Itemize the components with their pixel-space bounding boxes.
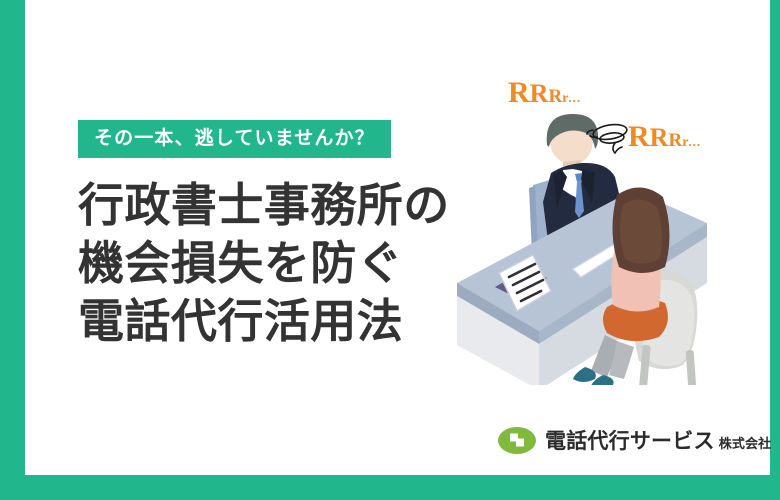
company-name-suffix: 株式会社 <box>719 433 772 452</box>
headline-line-1: 行政書士事務所の <box>78 177 478 235</box>
ring-ellipsis: ... <box>568 90 581 105</box>
ring-sound-text-2: RRRr... <box>628 122 701 152</box>
company-logo-lockup: 電話代行サービス 株式会社 <box>498 425 771 455</box>
phone-handset-icon <box>498 427 536 454</box>
eyebrow-banner: その一本、逃していませんか？ <box>78 120 391 158</box>
frame-left-edge <box>0 0 25 500</box>
frame-right-edge <box>770 0 780 500</box>
ring-letter-1: R <box>628 120 650 153</box>
ring-letter-3: R <box>668 130 682 151</box>
office-counter-consultation-illustration <box>455 45 765 385</box>
ring-ellipsis: ... <box>688 134 701 149</box>
page-title: 行政書士事務所の 機会損失を防ぐ 電話代行活用法 <box>78 177 478 351</box>
headline-line-3: 電話代行活用法 <box>78 293 478 351</box>
ring-sound-text-1: RRRr... <box>508 78 581 108</box>
headline-line-2: 機会損失を防ぐ <box>78 235 478 293</box>
ring-letter-3: R <box>548 86 562 107</box>
ring-letter-2: R <box>650 123 669 152</box>
poster-canvas: RRRr... RRRr... その一本、逃していませんか？ 行政書士事務所の … <box>0 0 780 500</box>
ring-letter-1: R <box>508 76 530 109</box>
company-name-main: 電話代行サービス <box>545 425 715 455</box>
headline-block: その一本、逃していませんか？ 行政書士事務所の 機会損失を防ぐ 電話代行活用法 <box>78 120 478 351</box>
company-name: 電話代行サービス 株式会社 <box>545 425 771 455</box>
frame-bottom-edge <box>0 475 780 500</box>
ring-letter-2: R <box>530 79 549 108</box>
